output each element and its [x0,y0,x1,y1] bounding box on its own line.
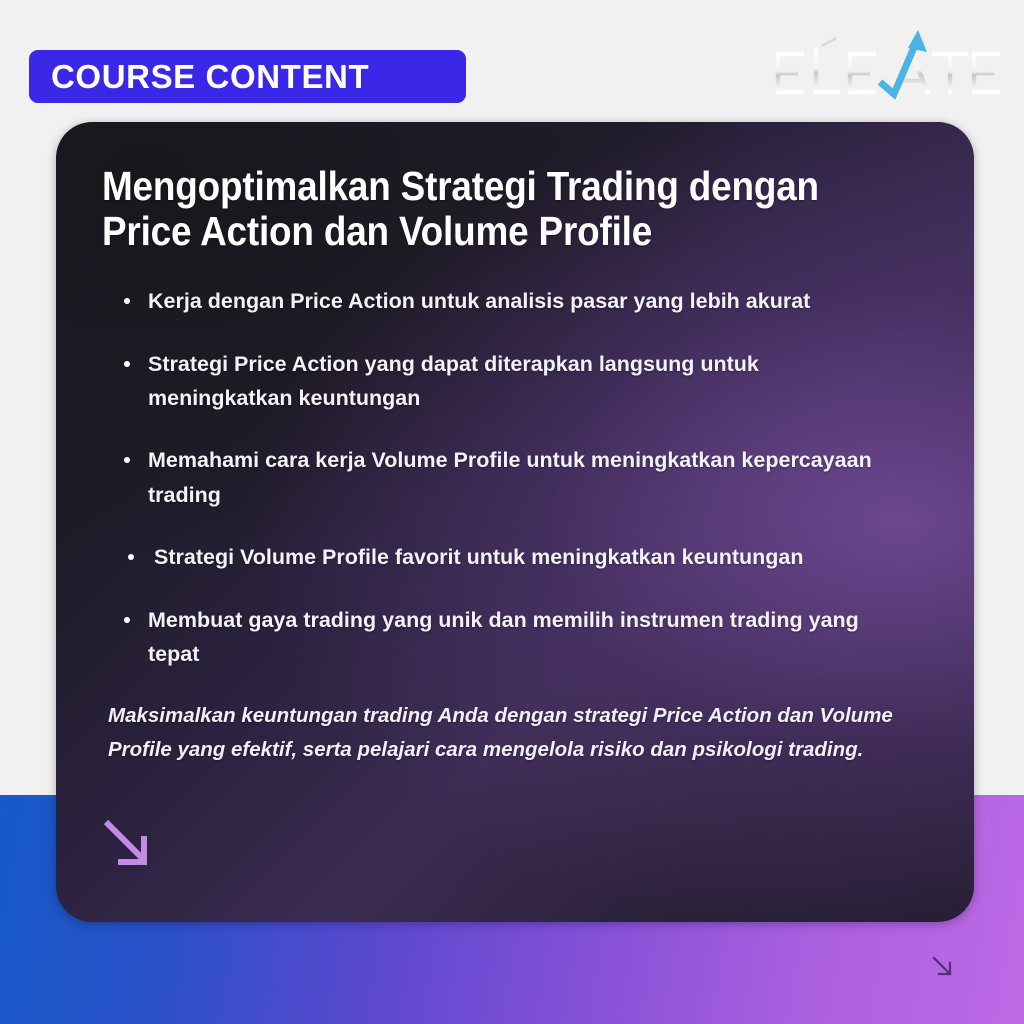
arrow-down-right-icon [930,954,956,980]
course-content-card: Mengoptimalkan Strategi Trading dengan P… [56,122,974,922]
page-title: Mengoptimalkan Strategi Trading dengan P… [102,164,840,254]
course-content-badge-label: COURSE CONTENT [51,58,369,96]
course-topics-list: Kerja dengan Price Action untuk analisis… [102,284,922,671]
upward-arrow-icon [880,30,927,94]
list-item: Kerja dengan Price Action untuk analisis… [102,284,892,318]
list-item: Membuat gaya trading yang unik dan memil… [102,603,892,672]
card-inner: Mengoptimalkan Strategi Trading dengan P… [56,122,974,922]
list-item: Memahami cara kerja Volume Profile untuk… [102,443,892,512]
summary-text: Maksimalkan keuntungan trading Anda deng… [102,699,922,767]
course-content-badge[interactable]: COURSE CONTENT [29,50,466,103]
poster-canvas: COURSE CONTENT [0,0,1024,1024]
elevate-logo[interactable] [766,24,1006,108]
logo-accent-tick [822,38,836,46]
list-item: Strategi Volume Profile favorit untuk me… [102,540,892,574]
arrow-down-right-icon [100,816,158,874]
list-item: Strategi Price Action yang dapat diterap… [102,347,892,416]
